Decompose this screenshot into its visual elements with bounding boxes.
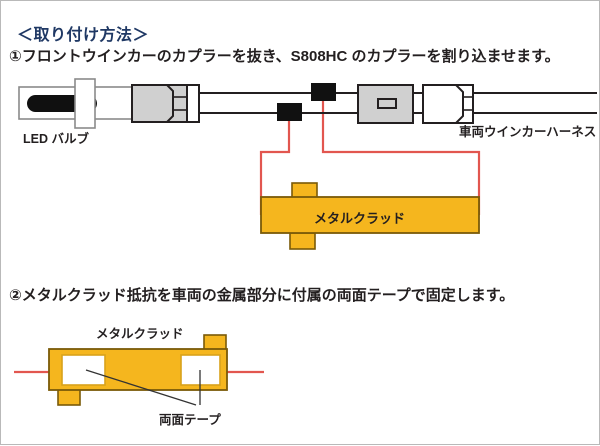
mount-tab-bottom-left: [58, 389, 80, 405]
instruction-sheet: ＜取り付け方法＞ ①フロントウインカーのカプラーを抜き、S808HC のカプラー…: [0, 0, 600, 445]
tape-mounting-diagram: [1, 1, 600, 446]
double-sided-tape-label: 両面テープ: [159, 409, 221, 428]
metal-clad-label-bottom: メタルクラッド: [96, 323, 184, 342]
tape-patch-left: [62, 355, 105, 385]
